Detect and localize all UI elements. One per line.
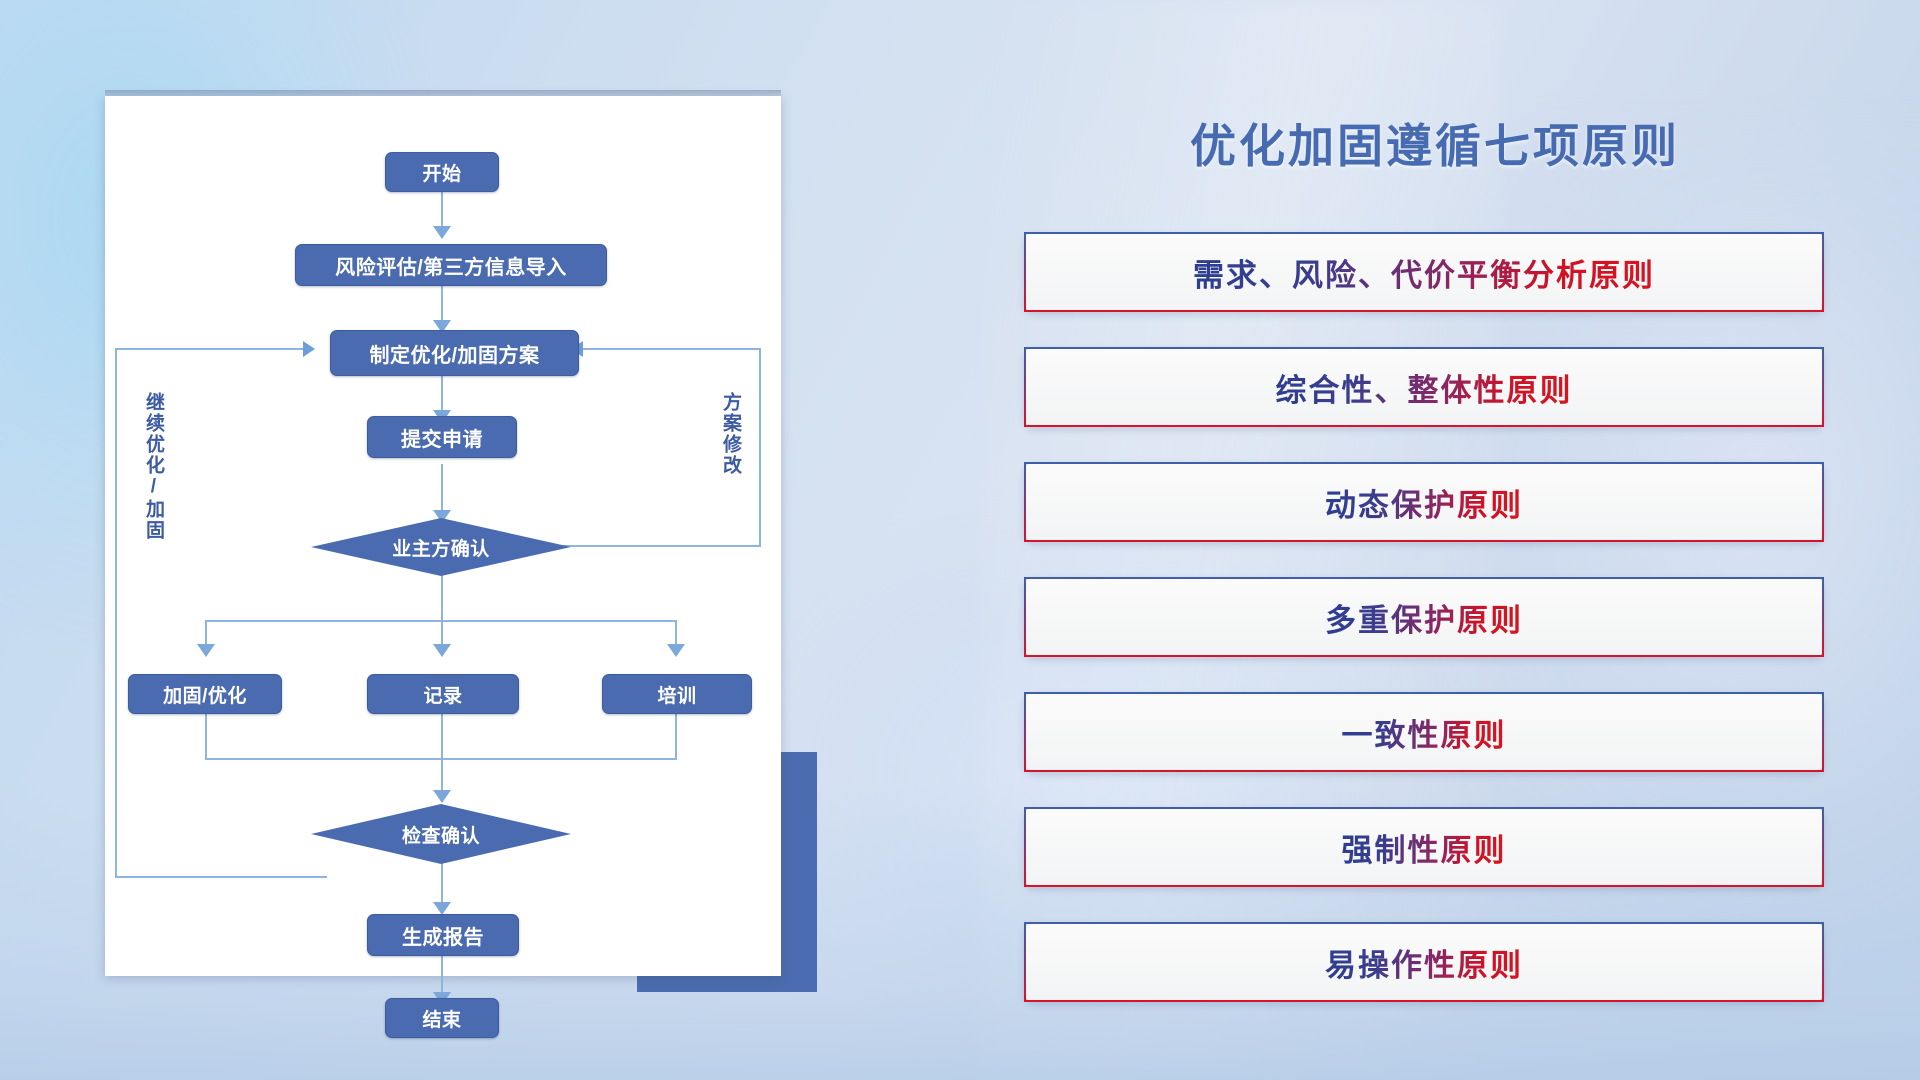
flow-node-reinforce[interactable]: 加固/优化: [128, 674, 282, 714]
arrowhead-left-loop-to-plan: [303, 341, 315, 357]
principle-card-label: 强制性原则: [1342, 825, 1507, 870]
principle-card[interactable]: 易操作性原则: [1024, 922, 1824, 1002]
flow-node-record[interactable]: 记录: [367, 674, 519, 714]
principle-card-label: 易操作性原则: [1325, 940, 1523, 985]
flow-node-risk-assessment[interactable]: 风险评估/第三方信息导入: [295, 244, 607, 286]
flow-node-reinforce-label: 加固/优化: [163, 681, 247, 708]
principle-card[interactable]: 动态保护原则: [1024, 462, 1824, 542]
flow-node-end[interactable]: 结束: [385, 998, 499, 1038]
flow-node-submit[interactable]: 提交申请: [367, 416, 517, 458]
arrowhead-branch-train: [667, 644, 685, 657]
flow-node-start-label: 开始: [422, 159, 461, 186]
flow-node-check-confirm[interactable]: 检查确认: [311, 804, 571, 864]
connector-right-loop-top: [581, 348, 761, 350]
flow-node-training-label: 培训: [657, 681, 696, 708]
flow-node-risk-assessment-label: 风险评估/第三方信息导入: [335, 251, 567, 280]
principles-card-list: 需求、风险、代价平衡分析原则 综合性、整体性原则 动态保护原则 多重保护原则 一…: [1024, 232, 1824, 1037]
connector-left-loop-bottom: [115, 876, 327, 878]
flow-node-check-confirm-label: 检查确认: [311, 804, 571, 864]
connector-reinforce-merge: [205, 712, 207, 760]
connector-right-loop-vertical: [759, 348, 761, 547]
principle-card[interactable]: 强制性原则: [1024, 807, 1824, 887]
flow-node-record-label: 记录: [423, 681, 462, 708]
flow-node-report-label: 生成报告: [402, 921, 484, 950]
connector-submit-owner: [441, 464, 443, 516]
flow-node-plan[interactable]: 制定优化/加固方案: [330, 330, 579, 376]
principle-card[interactable]: 多重保护原则: [1024, 577, 1824, 657]
principle-card-label: 多重保护原则: [1325, 595, 1523, 640]
flow-node-end-label: 结束: [422, 1005, 461, 1032]
principle-card-label: 需求、风险、代价平衡分析原则: [1193, 250, 1655, 295]
flow-node-submit-label: 提交申请: [401, 423, 483, 452]
flow-node-owner-confirm[interactable]: 业主方确认: [311, 518, 571, 576]
connector-owner-branch: [441, 575, 443, 621]
principles-panel-title: 优化加固遵循七项原则: [1155, 110, 1715, 176]
principle-card[interactable]: 综合性、整体性原则: [1024, 347, 1824, 427]
flow-node-plan-label: 制定优化/加固方案: [369, 339, 539, 368]
arrowhead-start-risk: [433, 226, 451, 239]
connector-left-loop-top: [115, 348, 305, 350]
principle-card-label: 动态保护原则: [1325, 480, 1523, 525]
flow-node-owner-confirm-label: 业主方确认: [311, 518, 571, 576]
flow-node-training[interactable]: 培训: [602, 674, 752, 714]
principle-card-label: 一致性原则: [1342, 710, 1507, 755]
connector-train-merge: [675, 712, 677, 760]
principle-card[interactable]: 需求、风险、代价平衡分析原则: [1024, 232, 1824, 312]
connector-left-loop-vertical: [115, 348, 117, 878]
flow-node-start[interactable]: 开始: [385, 152, 499, 192]
edge-label-continue-optimize: 继续优化/加固: [143, 392, 163, 572]
principle-card[interactable]: 一致性原则: [1024, 692, 1824, 772]
flow-node-report[interactable]: 生成报告: [367, 914, 519, 956]
principle-card-label: 综合性、整体性原则: [1276, 365, 1573, 410]
connector-record-merge: [441, 712, 443, 760]
edge-label-plan-revision: 方案修改: [720, 392, 740, 520]
arrowhead-merge-check: [433, 790, 451, 803]
arrowhead-branch-record: [433, 644, 451, 657]
flowchart-card: 开始 风险评估/第三方信息导入 制定优化/加固方案 提交申请 业主方确认 加固/…: [105, 96, 781, 976]
arrowhead-branch-reinforce: [197, 644, 215, 657]
